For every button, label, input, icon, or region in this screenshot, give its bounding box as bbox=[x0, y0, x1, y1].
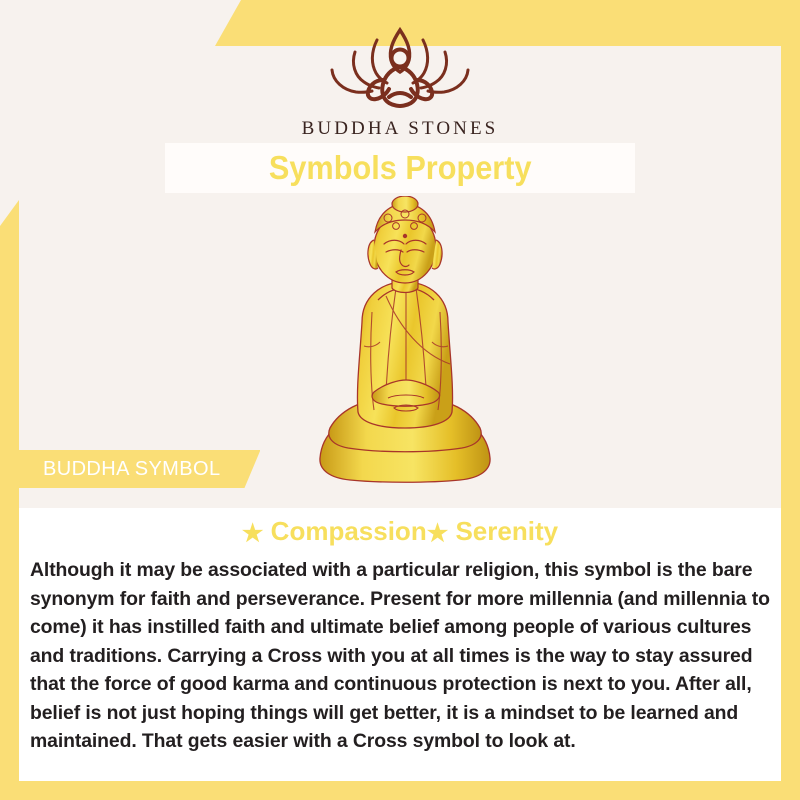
star-icon-left: ★ bbox=[242, 520, 264, 547]
buddha-illustration bbox=[300, 196, 510, 492]
decor-bottom-bar bbox=[0, 781, 800, 800]
brand-wordmark: BUDDHA STONES bbox=[0, 118, 800, 140]
lotus-meditation-figure-icon bbox=[305, 18, 495, 114]
title-banner: Symbols Property bbox=[165, 143, 635, 193]
brand-logo: BUDDHA STONES bbox=[0, 18, 800, 140]
decor-left-bar bbox=[0, 200, 19, 800]
content-subtitle: ★ Compassion★ Serenity bbox=[19, 516, 781, 548]
poster-root: BUDDHA STONES Symbols Property bbox=[0, 0, 800, 800]
subtitle-word-compassion: Compassion bbox=[271, 516, 427, 546]
subtitle-word-serenity: Serenity bbox=[455, 516, 558, 546]
content-panel: ★ Compassion★ Serenity Although it may b… bbox=[19, 508, 781, 781]
star-icon-right: ★ bbox=[427, 520, 449, 547]
section-tag-label: BUDDHA SYMBOL bbox=[43, 458, 220, 481]
body-paragraph: Although it may be associated with a par… bbox=[30, 556, 771, 756]
page-title: Symbols Property bbox=[269, 149, 532, 187]
seated-buddha-icon bbox=[300, 196, 510, 492]
section-tag-buddha-symbol: BUDDHA SYMBOL bbox=[19, 450, 260, 488]
